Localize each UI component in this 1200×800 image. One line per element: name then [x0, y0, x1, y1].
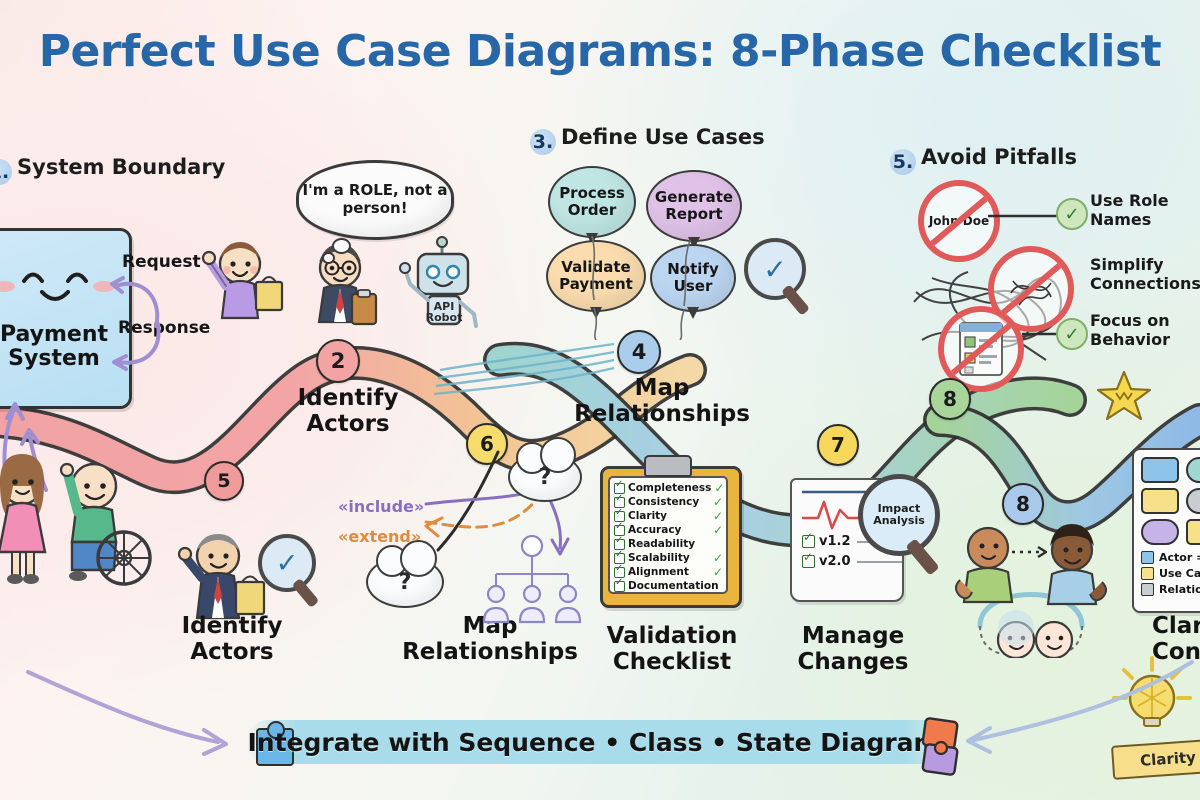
legend-swatch-usecase-oval — [1186, 457, 1200, 483]
legend-key-relationship: Relationship — [1141, 583, 1200, 596]
thought-dot-large — [332, 238, 351, 254]
bottom-left-flow-arrow — [20, 662, 280, 772]
actor-generalization-tree — [478, 534, 586, 630]
checklist-item[interactable]: Completeness✓ — [614, 481, 726, 495]
pitfall-rule-use-role-names: Use Role Names — [1090, 192, 1200, 229]
checklist-item[interactable]: Clarity✓ — [614, 509, 726, 523]
collaboration-people-illustration — [946, 518, 1126, 662]
checklist-item[interactable]: Readability — [614, 537, 726, 551]
legend-swatch-extra — [1186, 519, 1200, 545]
phase-node-4[interactable]: 4 — [617, 330, 661, 374]
validation-checklist-paper: Completeness✓ Consistency✓ Clarity✓ Accu… — [608, 476, 728, 594]
checklist-item[interactable]: Consistency✓ — [614, 495, 726, 509]
integration-banner-text: Integrate with Sequence • Class • State … — [246, 720, 956, 764]
actor-api-robot-illustration: API Robot — [392, 236, 492, 340]
phase-node-7[interactable]: 7 — [817, 424, 859, 466]
phase-label-map-relationships-top: MapRelationships — [572, 376, 752, 428]
svg-text:Robot: Robot — [426, 311, 463, 324]
role-thought-bubble: I'm a ROLE, not a person! — [296, 160, 454, 240]
legend-swatch-generalization — [1141, 519, 1179, 545]
diagram-legend-panel: Actor = Use Case Relationship — [1132, 448, 1200, 613]
pitfall-rule-focus-on-behavior: Focus on Behavior — [1090, 312, 1200, 349]
section-number-5: 5. — [890, 149, 916, 175]
use-case-balloon-process-order: Process Order — [548, 166, 636, 238]
legend-swatch-actor — [1141, 457, 1179, 483]
phase-node-2[interactable]: 2 — [316, 339, 360, 383]
relationship-cloud-bottom: ? — [366, 556, 444, 608]
page-title: Perfect Use Case Diagrams: 8-Phase Check… — [0, 26, 1200, 77]
phase-label-identify-actors-top: IdentifyActors — [278, 386, 418, 438]
checklist-item[interactable]: Documentation — [614, 579, 726, 593]
phase-label-validation-checklist: ValidationChecklist — [592, 624, 752, 676]
infographic-canvas: Perfect Use Case Diagrams: 8-Phase Check… — [0, 0, 1200, 800]
puzzle-piece-right-icon — [916, 716, 966, 782]
phase-node-8a[interactable]: 8 — [929, 378, 971, 420]
legend-key-use-case: Use Case — [1141, 567, 1200, 580]
impact-analysis-magnifier: Impact Analysis — [858, 474, 940, 556]
phase-label-manage-changes: ManageChanges — [778, 624, 928, 676]
checklist-item[interactable]: Alignment✓ — [614, 565, 726, 579]
actor-shopper-illustration — [196, 236, 292, 336]
relationship-cloud-top: ? — [508, 452, 582, 502]
pitfall-check-icon-1: ✓ — [1056, 198, 1088, 230]
checklist-item[interactable]: Scalability✓ — [614, 551, 726, 565]
section-heading-system-boundary: 1.System Boundary — [0, 156, 225, 185]
actor-wheelchair-illustration — [50, 440, 160, 604]
relationship-label-include: «include» — [338, 497, 424, 516]
pitfall-check-icon-2: ✓ — [1056, 318, 1088, 350]
use-case-check-magnifier-icon: ✓ — [744, 238, 806, 300]
thought-dot-small — [322, 252, 335, 264]
request-response-arrows — [104, 262, 184, 382]
section-heading-avoid-pitfalls: 5.Avoid Pitfalls — [890, 146, 1077, 175]
version-row[interactable]: v2.0 — [802, 554, 902, 569]
legend-swatch-relationship — [1186, 488, 1200, 514]
phase-label-identify-actors-bottom: IdentifyActors — [152, 614, 312, 666]
pitfall-rule-simplify-connections: Simplify Connections — [1090, 256, 1200, 293]
bottom-right-flow-arrow — [960, 644, 1200, 764]
section-heading-define-use-cases: 3.Define Use Cases — [530, 126, 765, 155]
balloon-strings — [548, 230, 748, 340]
phase-node-5[interactable]: 5 — [204, 461, 244, 501]
validation-clipboard-clip — [644, 455, 692, 477]
legend-key-actor: Actor = — [1141, 551, 1200, 564]
checklist-item[interactable]: Accuracy✓ — [614, 523, 726, 537]
star-icon — [1096, 368, 1152, 428]
verify-magnifier-icon: ✓ — [258, 534, 316, 592]
legend-swatch-usecase — [1141, 488, 1179, 514]
section-number-3: 3. — [530, 129, 556, 155]
section-number-1: 1. — [0, 159, 12, 185]
